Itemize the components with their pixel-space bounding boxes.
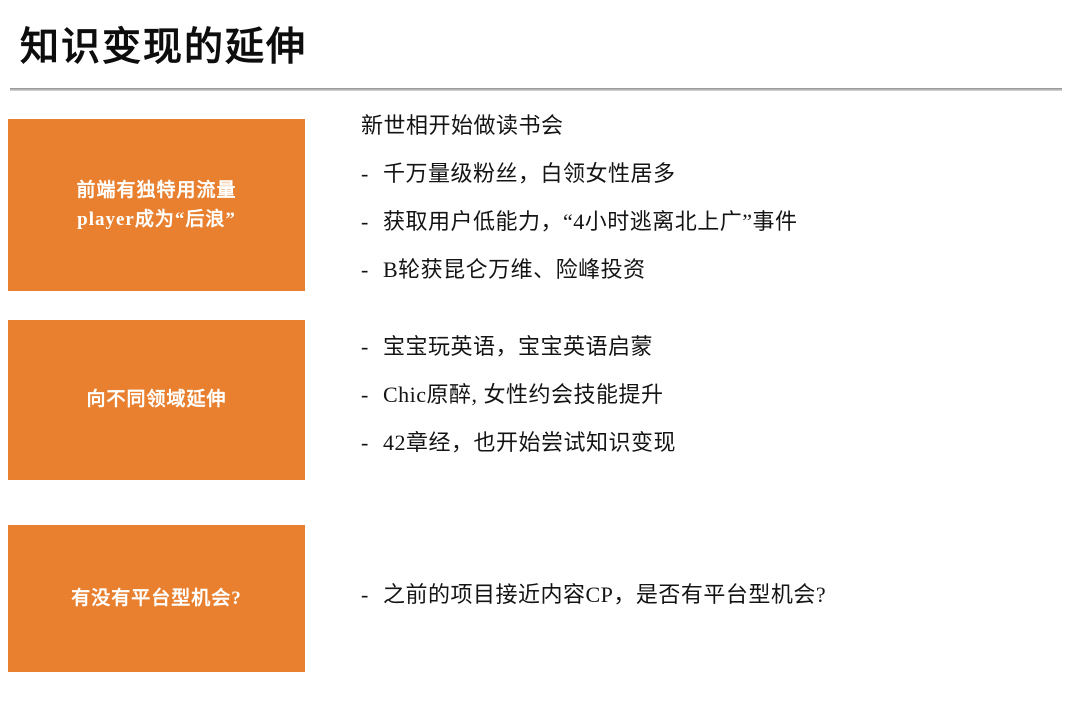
bullet-line: - Chic原醉, 女性约会技能提升	[361, 377, 1061, 425]
content-group: 新世相开始做读书会 - 千万量级粉丝，白领女性居多 - 获取用户低能力，“4小时…	[361, 108, 1061, 300]
bullet-line: - 获取用户低能力，“4小时逃离北上广”事件	[361, 204, 1061, 252]
content-group: - 宝宝玩英语，宝宝英语启蒙 - Chic原醉, 女性约会技能提升 - 42章经…	[361, 329, 1061, 473]
bullet-line: - 42章经，也开始尝试知识变现	[361, 425, 1061, 473]
bullet-dash-icon: -	[361, 257, 383, 283]
bullet-text: 千万量级粉丝，白领女性居多	[383, 156, 676, 188]
content-group: - 之前的项目接近内容CP，是否有平台型机会?	[361, 577, 1061, 625]
callout-box-label: 向不同领域延伸	[86, 385, 226, 414]
callout-box-platform-opportunity: 有没有平台型机会?	[8, 525, 305, 672]
bullet-dash-icon: -	[361, 209, 383, 235]
bullet-text: 42章经，也开始尝试知识变现	[383, 425, 676, 457]
bullet-line: - B轮获昆仑万维、险峰投资	[361, 252, 1061, 300]
callout-box-domain-expansion: 向不同领域延伸	[8, 320, 305, 480]
page-title: 知识变现的延伸	[20, 20, 920, 76]
title-divider	[10, 88, 1062, 91]
bullet-dash-icon: -	[361, 334, 383, 360]
callout-box-label: 前端有独特用流量 player成为“后浪”	[76, 176, 236, 235]
callout-box-front-end-traffic: 前端有独特用流量 player成为“后浪”	[8, 119, 305, 291]
bullet-dash-icon: -	[361, 582, 383, 608]
bullet-text: 宝宝玩英语，宝宝英语启蒙	[383, 329, 653, 361]
bullet-line: - 千万量级粉丝，白领女性居多	[361, 156, 1061, 204]
bullet-dash-icon: -	[361, 430, 383, 456]
bullet-line: - 宝宝玩英语，宝宝英语启蒙	[361, 329, 1061, 377]
bullet-text: Chic原醉, 女性约会技能提升	[383, 377, 664, 409]
callout-box-label: 有没有平台型机会?	[71, 584, 242, 613]
bullet-text: 之前的项目接近内容CP，是否有平台型机会?	[383, 577, 826, 609]
bullet-dash-icon: -	[361, 382, 383, 408]
bullet-text: 获取用户低能力，“4小时逃离北上广”事件	[383, 204, 798, 236]
bullet-text: B轮获昆仑万维、险峰投资	[383, 252, 646, 284]
group-heading: 新世相开始做读书会	[361, 108, 1061, 156]
bullet-line: - 之前的项目接近内容CP，是否有平台型机会?	[361, 577, 1061, 625]
bullet-dash-icon: -	[361, 161, 383, 187]
